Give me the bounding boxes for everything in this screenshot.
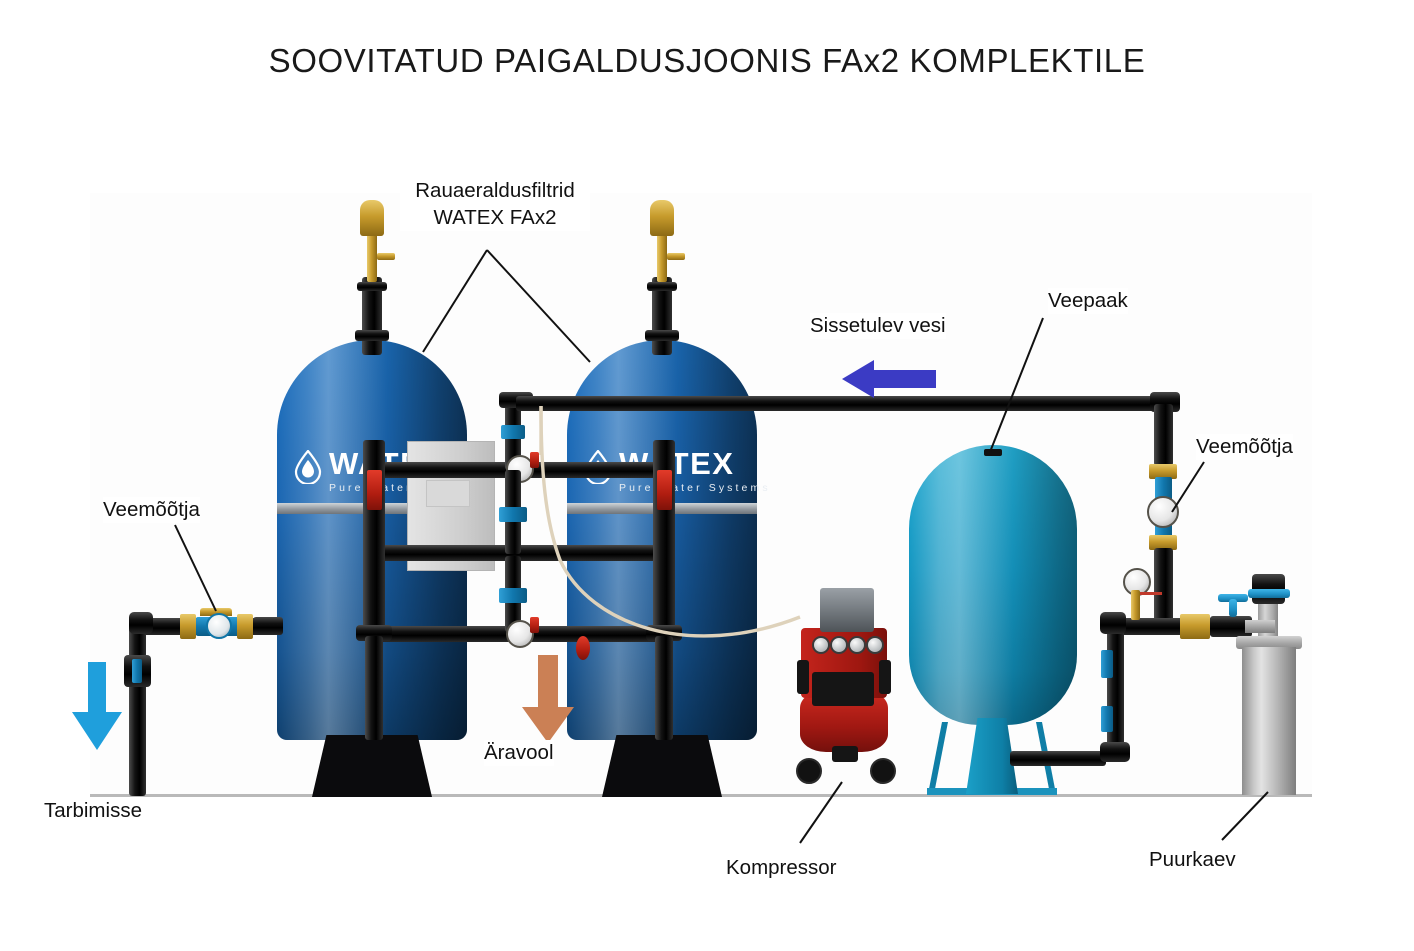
compressor-wheel-left <box>796 758 822 784</box>
filter-tank-2-base <box>602 735 722 797</box>
outlet-elbow <box>129 612 153 634</box>
water-meter-left-nut-in <box>180 614 196 639</box>
water-meter-right-dial <box>1147 496 1179 528</box>
right-brass-coupler <box>1180 614 1210 639</box>
compressor-gauge-2 <box>830 636 848 654</box>
well-head-valve-handle <box>1248 589 1290 598</box>
compressor-gauge-1 <box>812 636 830 654</box>
filter-tank-2-drop-leg <box>655 636 673 740</box>
water-meter-left-dial <box>206 613 232 639</box>
water-tank <box>909 445 1077 725</box>
right-ball-valve-stem <box>1229 599 1237 617</box>
page-title: SOOVITATUD PAIGALDUSJOONIS FAx2 KOMPLEKT… <box>0 42 1414 80</box>
bypass-union-blue <box>501 425 525 439</box>
label-water-meter-left: Veemõõtja <box>103 497 200 523</box>
filter-tank-1-air-valve <box>360 200 384 236</box>
right-union-blue-upper <box>1101 650 1113 678</box>
filter-tank-1-control-valve <box>367 470 382 510</box>
water-tank-bottom-pipe <box>1010 751 1106 766</box>
drain-valve-red <box>576 636 590 660</box>
filter-tank-1-air-valve-spout <box>377 253 395 260</box>
filter-tank-2-air-valve-stem <box>657 234 667 282</box>
right-bottom-elbow <box>1100 742 1130 762</box>
label-water-meter-right: Veemõõtja <box>1196 434 1293 460</box>
compressor-wheel-right <box>870 758 896 784</box>
outlet-pipe-down <box>129 618 146 796</box>
label-borehole: Puurkaev <box>1149 847 1236 873</box>
filter-tank-2-air-valve-spout <box>667 253 685 260</box>
compressor-motor-housing <box>812 672 874 706</box>
tank1-outlet-stub <box>253 617 283 635</box>
label-filters: Rauaeraldusfiltrid WATEX FAx2 <box>400 177 590 231</box>
pressure-gauge-right-handle <box>1140 592 1162 595</box>
label-filters-line1: Rauaeraldusfiltrid <box>400 177 590 204</box>
compressor-drain-valve <box>832 746 858 762</box>
filter-tank-2-riser-collar <box>645 330 679 341</box>
diagram-canvas: SOOVITATUD PAIGALDUSJOONIS FAx2 KOMPLEKT… <box>0 0 1414 951</box>
filter-tank-2-air-valve <box>650 200 674 236</box>
right-down-pipe-lower <box>1154 548 1173 626</box>
compressor-side-panel-right <box>879 660 891 694</box>
well-casing <box>1242 647 1296 795</box>
to-consumption-arrow <box>66 662 128 752</box>
mid-union-blue <box>499 507 527 522</box>
filter-tank-1-base <box>312 735 432 797</box>
sample-valve-upper <box>530 452 539 468</box>
filter-tank-1-riser-collar <box>355 330 389 341</box>
filter-tank-2-control-valve <box>657 470 672 510</box>
right-union-blue-lower <box>1101 706 1113 732</box>
right-down-pipe-upper <box>1154 404 1173 466</box>
filter-tank-1-air-valve-stem <box>367 234 377 282</box>
inlet-main-pipe <box>516 396 1164 411</box>
label-filters-line2: WATEX FAx2 <box>400 204 590 231</box>
compressor-pump-head <box>820 588 874 632</box>
outlet-union-blue <box>132 659 142 683</box>
label-compressor: Kompressor <box>726 855 837 881</box>
label-inlet-water: Sissetulev vesi <box>810 313 946 339</box>
well-connector-pipe <box>1245 620 1275 633</box>
right-manifold-elbow <box>1100 612 1126 634</box>
label-water-tank: Veepaak <box>1048 288 1128 314</box>
compressor-gauge-4 <box>866 636 884 654</box>
sample-valve-lower <box>530 617 539 633</box>
compressor-side-panel-left <box>797 660 809 694</box>
inlet-water-arrow <box>842 358 938 400</box>
filter-tank-1-drop-leg <box>365 636 383 740</box>
pressure-gauge-right-stem <box>1131 590 1140 620</box>
filter-tank-1-union <box>357 282 387 291</box>
mid-header-pipe <box>372 545 672 561</box>
filter-tank-2-union <box>647 282 677 291</box>
label-to-consumption: Tarbimisse <box>44 798 142 824</box>
control-box-display <box>426 480 470 507</box>
water-tank-top-fitting <box>984 449 1002 456</box>
drain-arrow <box>518 655 578 745</box>
lower-union-blue <box>499 588 527 603</box>
compressor-gauge-3 <box>848 636 866 654</box>
label-drain: Äravool <box>484 740 554 766</box>
water-meter-left-nut-out <box>237 614 253 639</box>
